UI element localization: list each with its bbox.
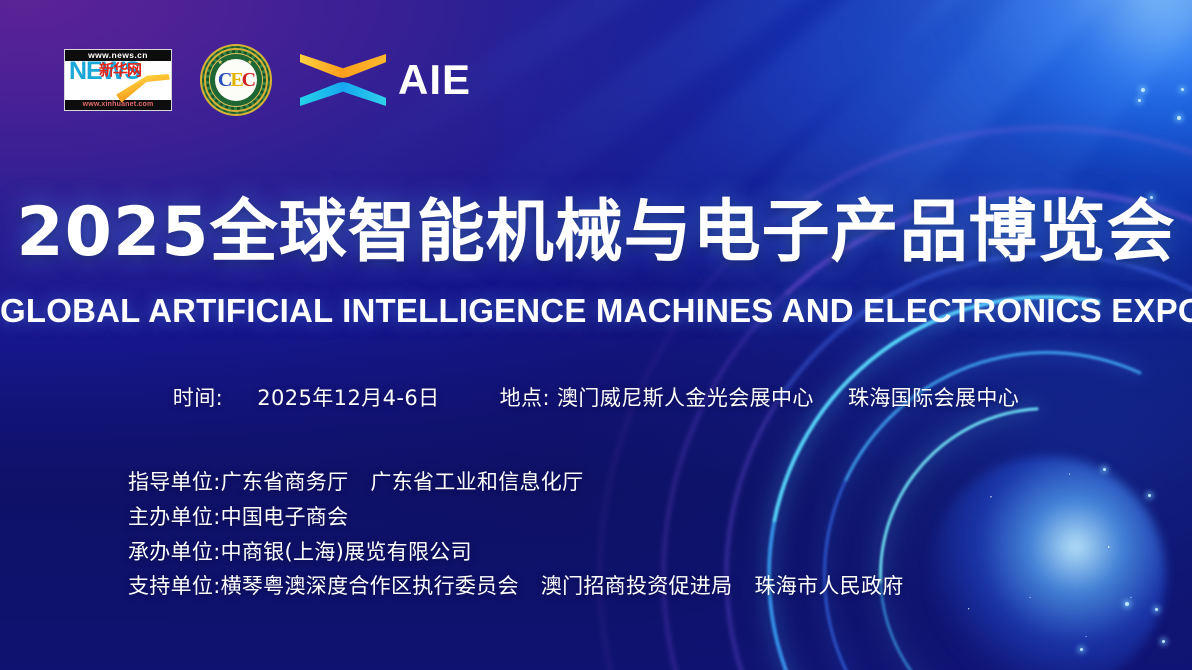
page-title-chinese: 2025全球智能机械与电子产品博览会: [0, 198, 1192, 267]
sparkle-dot: [1148, 494, 1151, 497]
event-time-value: 2025年12月4-6日: [257, 386, 439, 410]
sparkle-dot: [1141, 88, 1145, 92]
aie-bottom-wing-icon: [300, 82, 386, 106]
sparkle-dot: [1103, 468, 1106, 471]
event-venue-2: 珠海国际会展中心: [848, 386, 1019, 410]
organizer-value: 澳门招商投资促进局: [541, 574, 733, 598]
event-meta-line: 时间: 2025年12月4-6日 地点: 澳门威尼斯人金光会展中心 珠海国际会展…: [0, 382, 1192, 412]
organizer-value: 广东省商务厅: [221, 470, 349, 494]
sparkle-dot: [1162, 640, 1165, 643]
organizer-line: 支持单位:横琴粤澳深度合作区执行委员会澳门招商投资促进局珠海市人民政府: [128, 574, 904, 599]
aie-wordmark: AIE: [398, 59, 471, 101]
sponsor-logo-row: www.news.cn NEWS 新华网 www.xinhuanet.com ★…: [64, 44, 471, 116]
event-venue-1: 澳门威尼斯人金光会展中心: [557, 386, 814, 410]
xinhua-net-logo[interactable]: www.news.cn NEWS 新华网 www.xinhuanet.com: [64, 49, 172, 111]
aie-butterfly-icon: [300, 54, 386, 106]
sparkle-dot: [1080, 648, 1083, 651]
cecc-letters: CEC: [218, 70, 254, 90]
page-title-english: GLOBAL ARTIFICIAL INTELLIGENCE MACHINES …: [0, 292, 1192, 330]
organizer-value: 广东省工业和信息化厅: [370, 470, 583, 494]
cecc-inner-disc: CEC: [215, 59, 257, 101]
aie-logo[interactable]: AIE: [300, 54, 471, 106]
organizer-label: 支持单位:: [128, 574, 221, 598]
sparkle-dot: [1125, 602, 1129, 606]
organizer-line: 主办单位:中国电子商会: [128, 505, 904, 530]
organizer-line: 承办单位:中商银(上海)展览有限公司: [128, 540, 904, 565]
organizer-value: 中商银(上海)展览有限公司: [221, 540, 472, 564]
sparkle-dot: [1138, 99, 1141, 102]
sparkle-dot: [1155, 608, 1158, 611]
sparkle-dot: [1181, 88, 1184, 91]
cecc-seal-logo[interactable]: ★★★★★ CEC: [200, 44, 272, 116]
sparkle-dot: [1177, 116, 1181, 120]
organizer-label: 指导单位:: [128, 470, 221, 494]
xinhua-chinese-wordmark: 新华网: [99, 62, 141, 78]
organizer-value: 中国电子商会: [221, 505, 349, 529]
event-time-label: 时间:: [173, 386, 223, 410]
organizer-block: 指导单位:广东省商务厅广东省工业和信息化厅 主办单位:中国电子商会 承办单位:中…: [128, 470, 904, 599]
organizer-label: 主办单位:: [128, 505, 221, 529]
organizer-value: 珠海市人民政府: [754, 574, 903, 598]
event-place-label: 地点:: [500, 386, 550, 410]
organizer-value: 横琴粤澳深度合作区执行委员会: [221, 574, 519, 598]
expo-poster: www.news.cn NEWS 新华网 www.xinhuanet.com ★…: [0, 0, 1192, 670]
xinhua-bottom-url: www.xinhuanet.com: [65, 100, 171, 110]
organizer-label: 承办单位:: [128, 540, 221, 564]
organizer-line: 指导单位:广东省商务厅广东省工业和信息化厅: [128, 470, 904, 495]
xinhua-mark: NEWS 新华网: [65, 61, 171, 100]
aie-top-wing-icon: [300, 54, 386, 78]
